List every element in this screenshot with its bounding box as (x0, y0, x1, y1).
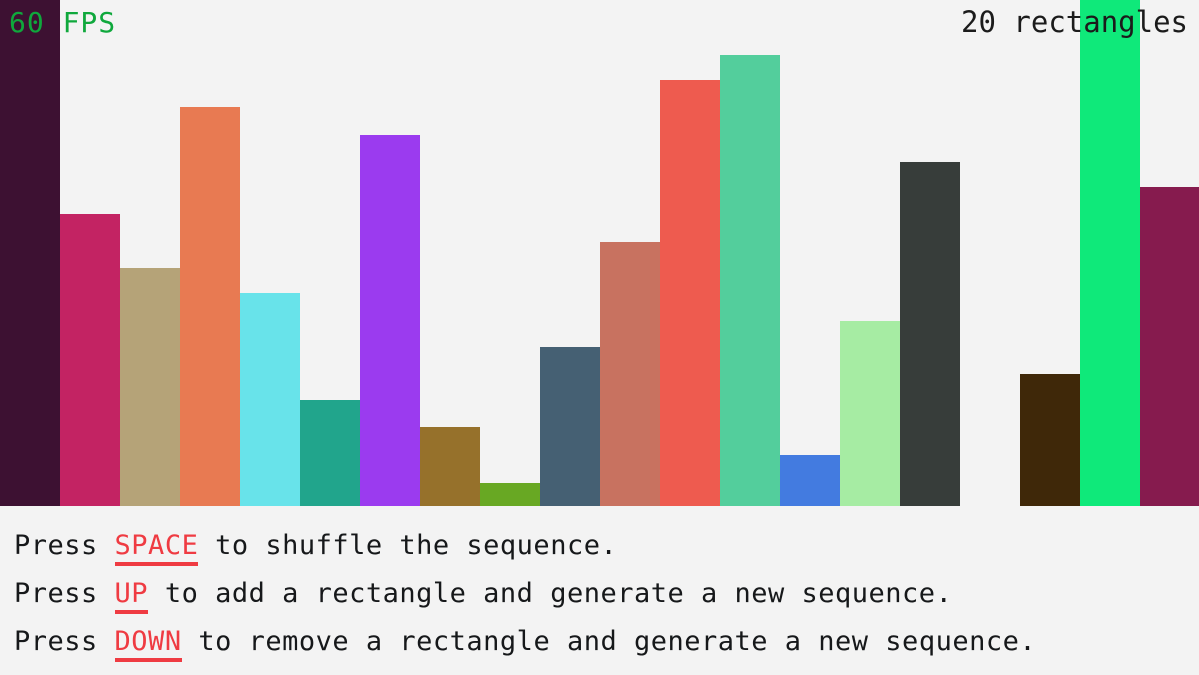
bar-rectangle (1140, 187, 1199, 506)
bar-rectangle (660, 80, 720, 506)
bar-rectangle (900, 162, 960, 506)
instruction-line: Press DOWN to remove a rectangle and gen… (14, 618, 1199, 666)
bar-rectangle (600, 242, 660, 506)
bar-rectangle (300, 400, 360, 506)
bar-rectangle (720, 55, 780, 506)
app-window: 60 FPS 20 rectangles Press SPACE to shuf… (0, 0, 1199, 675)
bar-rectangle (180, 107, 240, 506)
bar-rectangle (120, 268, 180, 506)
instructions-panel: Press SPACE to shuffle the sequence.Pres… (0, 506, 1199, 675)
bar-rectangle (240, 293, 300, 506)
instruction-suffix: to remove a rectangle and generate a new… (182, 626, 1037, 657)
bar-rectangle (0, 0, 60, 506)
instruction-suffix: to add a rectangle and generate a new se… (148, 578, 952, 609)
instruction-prefix: Press (14, 530, 115, 561)
fps-counter: 60 FPS (9, 9, 116, 37)
bar-rectangle (780, 455, 840, 506)
instruction-line: Press SPACE to shuffle the sequence. (14, 522, 1199, 570)
bar-rectangle (540, 347, 600, 506)
bar-rectangle (480, 483, 540, 506)
instruction-prefix: Press (14, 578, 115, 609)
rectangle-count-label: 20 rectangles (961, 7, 1188, 37)
key-hint-space[interactable]: SPACE (115, 530, 199, 566)
key-hint-down[interactable]: DOWN (115, 626, 182, 662)
instruction-line: Press UP to add a rectangle and generate… (14, 570, 1199, 618)
bar-rectangle (420, 427, 480, 506)
instruction-suffix: to shuffle the sequence. (198, 530, 617, 561)
bar-rectangle (360, 135, 420, 506)
key-hint-up[interactable]: UP (115, 578, 149, 614)
rectangle-sequence-canvas[interactable] (0, 0, 1199, 506)
instruction-prefix: Press (14, 626, 115, 657)
bar-rectangle (1080, 0, 1140, 506)
bar-rectangle (60, 214, 120, 506)
bar-rectangle (1020, 374, 1080, 506)
bar-rectangle (840, 321, 900, 506)
